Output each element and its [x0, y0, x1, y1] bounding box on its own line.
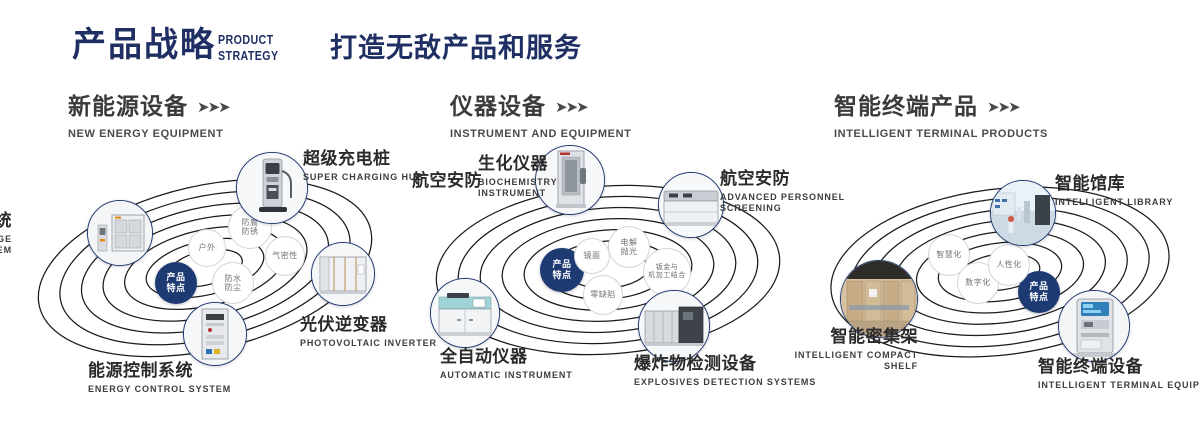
feature-bubble-outdoor[interactable]: 户外 — [188, 229, 226, 267]
caption-en-line2: SHELF — [760, 361, 918, 372]
caption-en-line1: INTELLIGENT TERMINAL EQUIPMENT — [1038, 380, 1200, 391]
caption-en: BIOCHEMISTRY INSTRUMENT — [478, 177, 557, 200]
section-title-cn: 智能终端产品➤➤➤ — [834, 95, 1048, 118]
caption-cn: 全自动仪器 — [440, 348, 573, 367]
core-label-line1: 产品 — [552, 259, 571, 270]
core-label-line1: 产品 — [1029, 281, 1048, 292]
caption-en-line2: SYSTEM — [0, 245, 12, 256]
feature-bubble-mirror-finish[interactable]: 镜面 — [574, 238, 610, 274]
caption-cn: 航空安防 — [412, 172, 482, 191]
product-bubble-super-charging-hub[interactable] — [236, 152, 308, 224]
product-bubble-explosives-detection-systems[interactable] — [638, 290, 710, 362]
caption-en-line1: BIOCHEMISTRY — [478, 177, 557, 188]
feature-bubble-zero-defect[interactable]: 零缺陷 — [583, 275, 623, 315]
core-label-line2: 特点 — [1029, 292, 1048, 303]
self-service-kiosk-icon — [1059, 291, 1129, 361]
page-title-english: PRODUCT STRATEGY — [218, 32, 279, 65]
caption-en-line1: AUTOMATIC INSTRUMENT — [440, 370, 573, 381]
caption-intelligent-compact-shelf: 智能密集架 INTELLIGENT COMPACT SHELF — [760, 328, 918, 372]
section-title-en: NEW ENERGY EQUIPMENT — [68, 128, 229, 140]
product-bubble-advanced-personnel-screening[interactable] — [658, 172, 724, 238]
explosives-detector-icon — [639, 291, 709, 361]
section-title-en: INTELLIGENT TERMINAL PRODUCTS — [834, 128, 1048, 140]
feature-label-line2: 抛光 — [621, 247, 638, 256]
caption-aviation-security: 航空安防 — [412, 172, 482, 191]
feature-label-line1: 零缺陷 — [590, 290, 616, 299]
library-room-photo-icon — [991, 181, 1055, 245]
section-title-cn: 新能源设备➤➤➤ — [68, 95, 229, 118]
automatic-analyzer-icon — [431, 279, 499, 347]
feature-label-line1: 电解 — [621, 238, 638, 247]
caption-cn: 能源控制系统 — [88, 362, 231, 381]
caption-en-line2: INSTRUMENT — [478, 188, 557, 199]
caption-energy-storage-system: 储能系统 ENERGY STORAGE SYSTEM — [0, 212, 12, 256]
feature-label-line2: 防尘 — [225, 283, 242, 292]
feature-label-line1: 智慧化 — [936, 250, 962, 259]
product-bubble-intelligent-terminal-equipment[interactable] — [1058, 290, 1130, 362]
feature-label-line2: 机加工结合 — [648, 272, 686, 280]
feature-label-line1: 户外 — [199, 243, 216, 252]
compact-shelf-photo-icon — [841, 261, 917, 337]
section-title-cn-text: 仪器设备 — [450, 93, 546, 119]
section-title-intelligent-terminal: 智能终端产品➤➤➤ INTELLIGENT TERMINAL PRODUCTS — [834, 95, 1048, 140]
control-cabinet-icon — [184, 303, 246, 365]
product-strategy-infographic: 产品战略 PRODUCT STRATEGY 打造无敌产品和服务 新能源设备➤➤➤… — [0, 0, 1200, 422]
product-bubble-energy-storage-system[interactable] — [87, 200, 153, 266]
cluster-intelligent-terminal-products: 产品 特点 智慧化 数字化 人性化 — [800, 150, 1200, 400]
chevrons-right-icon: ➤➤➤ — [197, 100, 229, 115]
page-title: 产品战略 — [72, 28, 216, 62]
feature-label-line1: 防水 — [225, 274, 242, 283]
caption-en-line1: ENERGY CONTROL SYSTEM — [88, 384, 231, 395]
energy-storage-cabinet-icon — [88, 201, 152, 265]
feature-label-line1: 数字化 — [965, 278, 991, 287]
section-title-en: INSTRUMENT AND EQUIPMENT — [450, 128, 631, 140]
caption-intelligent-terminal-equipment: 智能终端设备 INTELLIGENT TERMINAL EQUIPMENT — [1038, 358, 1200, 391]
caption-energy-control-system: 能源控制系统 ENERGY CONTROL SYSTEM — [88, 362, 231, 395]
product-bubble-energy-control-system[interactable] — [183, 302, 247, 366]
feature-bubble-airtightness[interactable]: 气密性 — [265, 236, 305, 276]
feature-bubble-waterproof-dustproof[interactable]: 防水 防尘 — [212, 262, 254, 304]
core-bubble-product-features[interactable]: 产品 特点 — [155, 262, 197, 304]
core-label-line2: 特点 — [166, 283, 185, 294]
caption-en-line1: INTELLIGENT COMPACT — [760, 350, 918, 361]
screening-machine-icon — [659, 173, 723, 237]
caption-cn: 智能密集架 — [760, 328, 918, 347]
caption-cn: 储能系统 — [0, 212, 12, 231]
caption-en-line1: ENERGY STORAGE — [0, 234, 12, 245]
caption-cn: 智能终端设备 — [1038, 358, 1200, 377]
caption-en: INTELLIGENT COMPACT SHELF — [760, 350, 918, 373]
feature-bubble-electropolishing[interactable]: 电解 抛光 — [608, 226, 650, 268]
caption-intelligent-library: 智能馆库 INTELLIGENT LIBRARY — [1055, 175, 1173, 208]
product-bubble-automatic-instrument[interactable] — [430, 278, 500, 348]
core-label-line2: 特点 — [552, 270, 571, 281]
caption-en-line1: EXPLOSIVES DETECTION SYSTEMS — [634, 377, 816, 388]
cluster-new-energy-equipment: 产品 特点 户外 防腐 防锈 防水 防尘 气密性 — [0, 150, 420, 390]
cluster-instrument-and-equipment: 产品 特点 镜面 电解 抛光 钣金与 机加工结合 零缺陷 — [400, 150, 820, 395]
page-slogan: 打造无敌产品和服务 — [330, 35, 582, 62]
section-title-cn-text: 智能终端产品 — [834, 93, 978, 119]
feature-bubble-humanized[interactable]: 人性化 — [988, 244, 1030, 286]
product-bubble-photovoltaic-inverter[interactable] — [311, 242, 375, 306]
caption-cn: 生化仪器 — [478, 155, 557, 174]
feature-label-line1: 镜面 — [584, 251, 601, 260]
section-title-cn: 仪器设备➤➤➤ — [450, 95, 631, 118]
feature-label-line1: 钣金与 — [648, 264, 686, 272]
chevrons-right-icon: ➤➤➤ — [555, 100, 587, 115]
feature-label-line1: 人性化 — [996, 260, 1022, 269]
core-label-line1: 产品 — [166, 272, 185, 283]
section-title-new-energy: 新能源设备➤➤➤ NEW ENERGY EQUIPMENT — [68, 95, 229, 140]
section-title-cn-text: 新能源设备 — [68, 93, 188, 119]
caption-en-line1: INTELLIGENT LIBRARY — [1055, 197, 1173, 208]
feature-bubble-sheetmetal-machining[interactable]: 钣金与 机加工结合 — [643, 248, 691, 296]
caption-automatic-instrument: 全自动仪器 AUTOMATIC INSTRUMENT — [440, 348, 573, 381]
page-title-en-line2: STRATEGY — [218, 48, 279, 64]
feature-label-line2: 防锈 — [242, 227, 259, 236]
section-title-instrument: 仪器设备➤➤➤ INSTRUMENT AND EQUIPMENT — [450, 95, 631, 140]
pv-inverter-cabinet-icon — [312, 243, 374, 305]
charging-pile-icon — [237, 153, 307, 223]
page-header: 产品战略 PRODUCT STRATEGY 打造无敌产品和服务 — [0, 0, 1200, 86]
chevrons-right-icon: ➤➤➤ — [987, 100, 1019, 115]
caption-en: ENERGY STORAGE SYSTEM — [0, 234, 12, 257]
caption-cn: 智能馆库 — [1055, 175, 1173, 194]
page-title-en-line1: PRODUCT — [218, 32, 279, 48]
feature-label-line1: 气密性 — [272, 251, 298, 260]
caption-biochemistry-instrument: 生化仪器 BIOCHEMISTRY INSTRUMENT — [478, 155, 557, 199]
product-bubble-intelligent-library[interactable] — [990, 180, 1056, 246]
